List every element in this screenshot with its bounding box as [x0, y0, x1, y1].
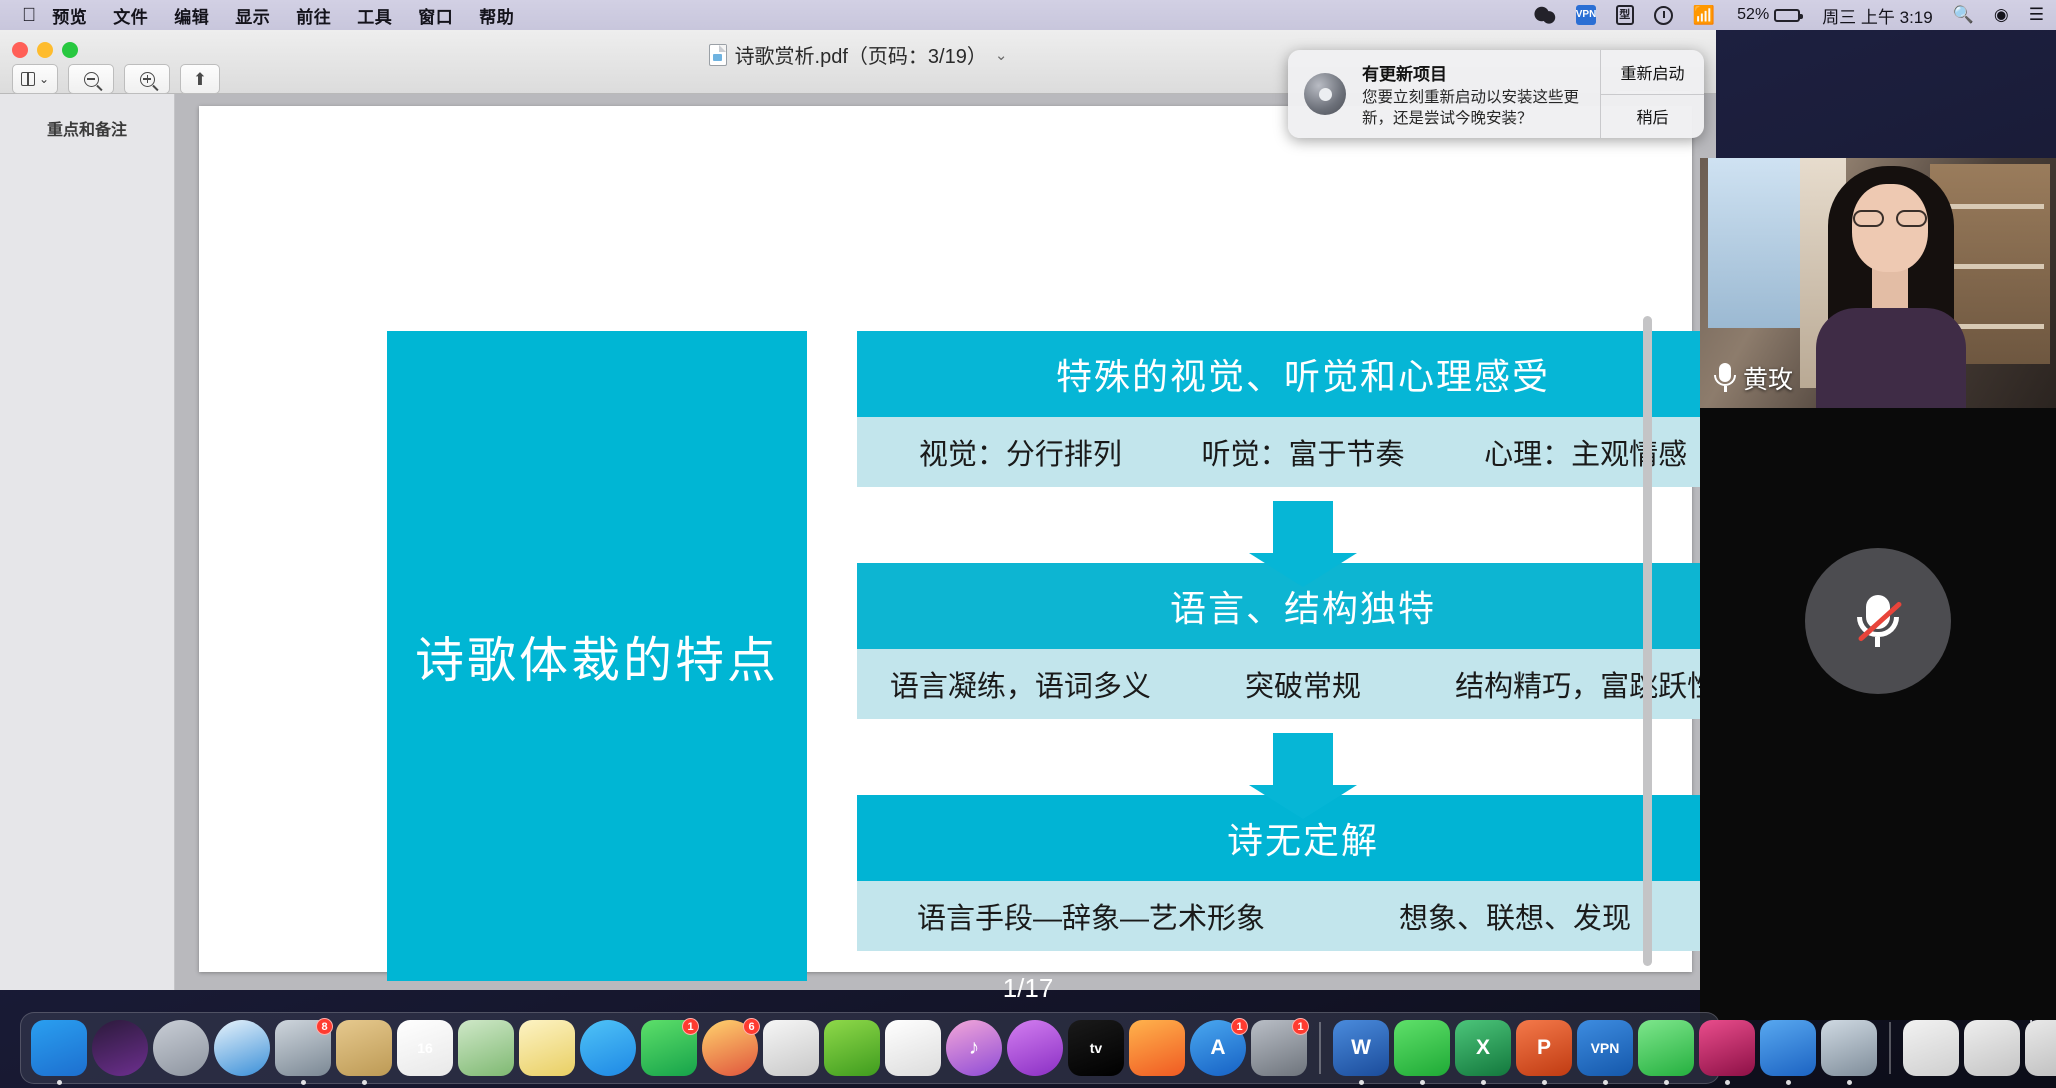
dock-running-indicator: [1359, 1080, 1364, 1085]
dock-icon-contacts[interactable]: [336, 1020, 392, 1076]
menu-item-preview[interactable]: 预览: [52, 3, 87, 28]
video-conference-panel: 黄玫: [1716, 30, 2056, 990]
microphone-icon: [1714, 363, 1736, 393]
dock-icon-itunes[interactable]: ♪: [946, 1020, 1002, 1076]
menu-item-help[interactable]: 帮助: [479, 3, 514, 28]
menu-item-file[interactable]: 文件: [113, 3, 148, 28]
dock: 81616♪tvA11WXPVPN: [20, 1012, 1720, 1084]
dock-running-indicator: [362, 1080, 367, 1085]
microphone-muted-icon: [1855, 593, 1901, 649]
dock-icon-glyph: W: [1351, 1036, 1371, 1060]
menu-item-tools[interactable]: 工具: [357, 3, 392, 28]
dock-icon-stack-recents[interactable]: [2025, 1020, 2056, 1076]
wechat-status-icon[interactable]: [1534, 5, 1556, 25]
ime-label: 型: [1616, 5, 1634, 25]
dock-icon-photos[interactable]: 6: [702, 1020, 758, 1076]
notification-text: 有更新项目 您要立刻重新启动以安装这些更新，还是尝试今晚安装？: [1362, 50, 1600, 138]
dock-running-indicator: [1481, 1080, 1486, 1085]
dock-icon-classin[interactable]: [1760, 1020, 1816, 1076]
self-avatar: [1805, 548, 1951, 694]
sidebar-caret-icon: ⌄: [39, 72, 49, 86]
dock-icon-news[interactable]: [885, 1020, 941, 1076]
notification-actions: 重新启动 稍后: [1600, 50, 1704, 138]
sidebar-icon: [21, 72, 35, 86]
dock-icon-books[interactable]: [1129, 1020, 1185, 1076]
dock-icon-launchpad[interactable]: [153, 1020, 209, 1076]
dock-icon-podcasts[interactable]: [1007, 1020, 1063, 1076]
siri-icon[interactable]: ◉: [1994, 5, 2009, 25]
dock-badge: 1: [1231, 1018, 1248, 1035]
flow-block-1-body: 视觉：分行排列 听觉：富于节奏 心理：主观情感: [857, 417, 1716, 487]
dock-icon-textedit[interactable]: [763, 1020, 819, 1076]
input-method-status-icon[interactable]: 型: [1616, 5, 1634, 25]
flow-block-2-cell-3: 结构精巧，富跳跃性: [1444, 663, 1716, 705]
page-scrollbar[interactable]: [1643, 316, 1652, 966]
menu-item-view[interactable]: 显示: [235, 3, 270, 28]
participant-name-badge: 黄玫: [1714, 360, 1793, 396]
chevron-down-icon[interactable]: ⌄: [995, 46, 1008, 64]
preview-window: 诗歌赏析.pdf（页码：3/19） ⌄ ⌄ ⬆ ✎ ⌄ 重点和备注: [0, 30, 1716, 990]
slide-flow-column: 特殊的视觉、听觉和心理感受 视觉：分行排列 听觉：富于节奏 心理：主观情感 语言…: [857, 331, 1716, 951]
flow-block-1-cell-2: 听觉：富于节奏: [1162, 431, 1445, 473]
dock-icon-tencent-meeting[interactable]: [1699, 1020, 1755, 1076]
flow-block-2-cell-1: 语言凝练，语词多义: [879, 663, 1162, 705]
dock-running-indicator: [1725, 1080, 1730, 1085]
dock-icon-glyph: A: [1210, 1036, 1225, 1060]
share-button[interactable]: ⬆: [180, 64, 220, 94]
document-area[interactable]: 诗歌体裁的特点 特殊的视觉、听觉和心理感受 视觉：分行排列 听觉：富于节奏 心理…: [175, 94, 1716, 990]
dock-badge: 8: [316, 1018, 333, 1035]
dock-icon-excel[interactable]: X: [1455, 1020, 1511, 1076]
notification-body: 您要立刻重新启动以安装这些更新，还是尝试今晚安装？: [1362, 88, 1594, 130]
dock-running-indicator: [57, 1080, 62, 1085]
flow-block-3-cell-1: 语言手段—辞象—艺术形象: [879, 895, 1303, 937]
zoom-in-button[interactable]: [124, 64, 170, 94]
menu-bar:  预览 文件 编辑 显示 前往 工具 窗口 帮助 VPN 型 📶 52% 周三…: [0, 0, 2056, 30]
sidebar-title: 重点和备注: [0, 94, 174, 140]
battery-icon: [1774, 9, 1800, 22]
dock-icon-image-viewer[interactable]: [1821, 1020, 1877, 1076]
dock-icon-glyph: 16: [417, 1040, 433, 1056]
notification-icon-wrap: [1288, 50, 1362, 138]
flow-arrow-2-wrap: [857, 719, 1716, 795]
flow-block-2-body: 语言凝练，语词多义 突破常规 结构精巧，富跳跃性: [857, 649, 1716, 719]
dock-icon-preview[interactable]: 8: [275, 1020, 331, 1076]
pdf-document-icon: [709, 44, 727, 66]
slide-main-title: 诗歌体裁的特点: [387, 331, 807, 981]
flow-block-1-cell-1: 视觉：分行排列: [879, 431, 1162, 473]
battery-percent-label: 52%: [1737, 6, 1769, 24]
software-update-notification[interactable]: 有更新项目 您要立刻重新启动以安装这些更新，还是尝试今晚安装？ 重新启动 稍后: [1288, 50, 1704, 138]
dock-icon-appletv[interactable]: tv: [1068, 1020, 1124, 1076]
software-update-gear-icon: [1304, 73, 1346, 115]
dock-running-indicator: [1786, 1080, 1791, 1085]
dock-icon-siri[interactable]: [92, 1020, 148, 1076]
vpn-status-icon[interactable]: VPN: [1576, 5, 1596, 25]
background-window: [1708, 158, 1800, 328]
menu-item-window[interactable]: 窗口: [418, 3, 453, 28]
menu-item-edit[interactable]: 编辑: [174, 3, 209, 28]
flow-block-1: 特殊的视觉、听觉和心理感受 视觉：分行排列 听觉：富于节奏 心理：主观情感: [857, 331, 1716, 487]
flow-block-3-body: 语言手段—辞象—艺术形象 想象、联想、发现: [857, 881, 1716, 951]
restart-button[interactable]: 重新启动: [1601, 50, 1704, 94]
pdf-page: 诗歌体裁的特点 特殊的视觉、听觉和心理感受 视觉：分行排列 听觉：富于节奏 心理…: [199, 106, 1692, 972]
dock-icon-powerpoint[interactable]: P: [1516, 1020, 1572, 1076]
preview-sidebar[interactable]: 重点和备注: [0, 94, 175, 990]
dock-icon-finder[interactable]: [31, 1020, 87, 1076]
dock-icon-vpn-app[interactable]: VPN: [1577, 1020, 1633, 1076]
time-machine-status-icon[interactable]: [1654, 6, 1673, 25]
dock-icon-notes[interactable]: [519, 1020, 575, 1076]
dock-icon-safari[interactable]: [214, 1020, 270, 1076]
menu-item-go[interactable]: 前往: [296, 3, 331, 28]
participant-glasses: [1852, 210, 1928, 227]
zoom-out-icon: [84, 72, 99, 87]
menu-bar-clock[interactable]: 周三 上午 3:19: [1822, 3, 1933, 28]
flow-block-2-cell-2: 突破常规: [1162, 663, 1445, 705]
dock-icon-word[interactable]: W: [1333, 1020, 1389, 1076]
dock-running-indicator: [301, 1080, 306, 1085]
zoom-out-button[interactable]: [68, 64, 114, 94]
dock-icon-numbers[interactable]: [824, 1020, 880, 1076]
apple-menu-icon[interactable]: : [22, 6, 36, 25]
flow-block-1-heading: 特殊的视觉、听觉和心理感受: [857, 331, 1716, 417]
dock-icon-facetime[interactable]: 1: [641, 1020, 697, 1076]
flow-block-3-cell-2: 想象、联想、发现: [1303, 895, 1716, 937]
dock-running-indicator: [1603, 1080, 1608, 1085]
dock-running-indicator: [1847, 1080, 1852, 1085]
dock-badge: 6: [743, 1018, 760, 1035]
wifi-status-icon[interactable]: 📶: [1693, 5, 1715, 26]
window-title-text: 诗歌赏析.pdf（页码：3/19）: [735, 40, 987, 69]
dock-running-indicator: [1664, 1080, 1669, 1085]
dock-separator: [1319, 1022, 1321, 1074]
battery-status[interactable]: 52%: [1735, 6, 1800, 24]
dock-icon-appstore[interactable]: A1: [1190, 1020, 1246, 1076]
dock-icon-glyph: X: [1476, 1036, 1490, 1060]
notification-title: 有更新项目: [1362, 60, 1594, 85]
dock-running-indicator: [1420, 1080, 1425, 1085]
participant-body: [1816, 308, 1966, 408]
sidebar-toggle-button[interactable]: ⌄: [12, 64, 58, 94]
dock-icon-messages[interactable]: [580, 1020, 636, 1076]
dock-icon-glyph: ♪: [969, 1036, 980, 1060]
spotlight-search-icon[interactable]: 🔍: [1953, 5, 1974, 25]
dock-icon-stack-downloads[interactable]: [1964, 1020, 2020, 1076]
dock-separator: [1889, 1022, 1891, 1074]
dock-icon-wechat[interactable]: [1394, 1020, 1450, 1076]
window-toolbar: ⌄ ⬆: [12, 64, 220, 94]
dock-icon-settings[interactable]: 1: [1251, 1020, 1307, 1076]
dock-icon-glyph: P: [1537, 1036, 1551, 1060]
participant-name-label: 黄玫: [1743, 360, 1793, 396]
down-arrow-icon: [1273, 733, 1333, 785]
dock-running-indicator: [1542, 1080, 1547, 1085]
later-button[interactable]: 稍后: [1601, 94, 1704, 139]
dock-icon-calendar[interactable]: 16: [397, 1020, 453, 1076]
slide-content: 诗歌体裁的特点 特殊的视觉、听觉和心理感受 视觉：分行排列 听觉：富于节奏 心理…: [199, 106, 1692, 972]
share-icon: ⬆: [193, 71, 207, 88]
control-center-icon[interactable]: ☰: [2029, 5, 2044, 25]
dock-icon-stack-documents[interactable]: [1903, 1020, 1959, 1076]
dock-icon-glyph: VPN: [1591, 1040, 1620, 1056]
zoom-in-icon: [140, 72, 155, 87]
participant-face: [1852, 184, 1928, 272]
dock-icon-maps[interactable]: [458, 1020, 514, 1076]
dock-badge: 1: [682, 1018, 699, 1035]
flow-arrow-1-wrap: [857, 487, 1716, 563]
dock-icon-glyph: tv: [1090, 1040, 1102, 1056]
down-arrow-icon: [1273, 501, 1333, 553]
page-indicator: 1/17: [0, 973, 2056, 1004]
flow-block-1-cell-3: 心理：主观情感: [1444, 431, 1716, 473]
self-video-tile[interactable]: [1700, 408, 2056, 1020]
participant-video-tile[interactable]: 黄玫: [1700, 158, 2056, 408]
dock-icon-qq[interactable]: [1638, 1020, 1694, 1076]
vpn-badge: VPN: [1576, 5, 1596, 25]
dock-badge: 1: [1292, 1018, 1309, 1035]
